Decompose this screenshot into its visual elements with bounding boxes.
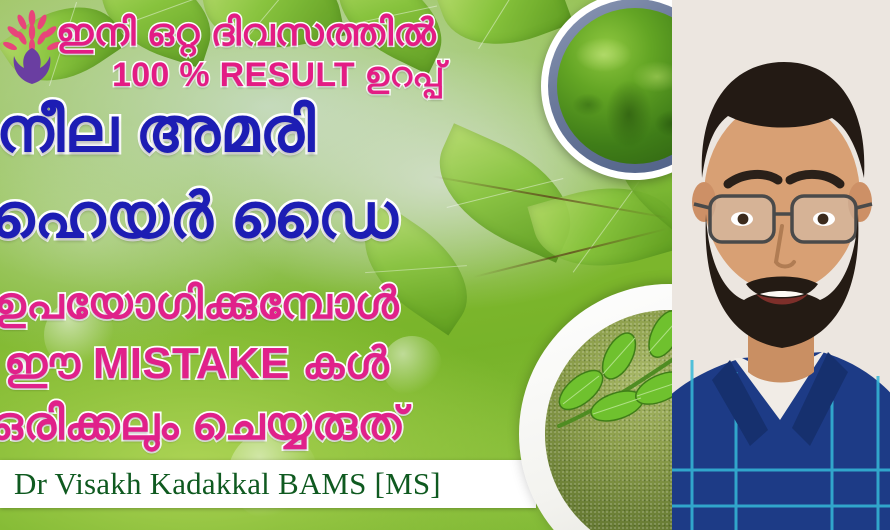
thumbnail-canvas: ഇനി ഒറ്റ ദിവസത്തിൽ 100 % RESULT ഉറപ്പ് ന… xyxy=(0,0,890,530)
headline-line-5: ഉപയോഗിക്കുമ്പോൾ xyxy=(0,282,399,326)
headline-line-1: ഇനി ഒറ്റ ദിവസത്തിൽ xyxy=(56,14,436,52)
headline-line-6: ഈ MISTAKE കൾ xyxy=(4,342,389,386)
headline-line-7: ഒരിക്കലും ചെയ്യരുത് xyxy=(0,400,406,446)
flower-hands-logo xyxy=(2,6,62,86)
presenter-name-bar: Dr Visakh Kadakkal BAMS [MS] xyxy=(0,460,536,508)
male-presenter-with-glasses xyxy=(672,0,890,530)
presenter-name: Dr Visakh Kadakkal BAMS [MS] xyxy=(0,466,441,502)
bokeh-highlight xyxy=(382,336,442,396)
headline-line-2: 100 % RESULT ഉറപ്പ് xyxy=(112,58,445,92)
headline-line-3: നീല അമരി xyxy=(0,100,315,162)
headline-line-4: ഹെയർ ഡൈ xyxy=(0,186,398,248)
